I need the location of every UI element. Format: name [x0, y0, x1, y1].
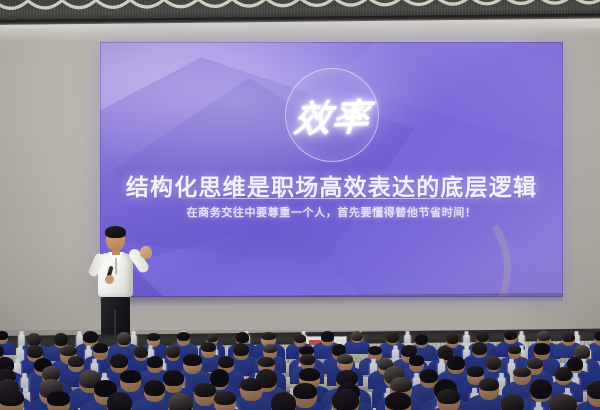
audience-hair: [420, 369, 438, 383]
projection-screen: 效率 结构化思维是职场高效表达的底层逻辑 在商务交往中要尊重一个人，首先要懂得替…: [100, 42, 563, 297]
audience-hair: [508, 345, 522, 354]
audience-hair: [537, 331, 551, 341]
audience-hair: [134, 346, 148, 359]
audience-hair: [594, 331, 600, 341]
audience-hair: [293, 383, 316, 399]
audience-hair: [117, 332, 131, 345]
audience-hair: [27, 333, 41, 346]
audience-hair: [390, 377, 412, 392]
audience-hair: [107, 392, 132, 410]
audience-hair: [409, 355, 425, 365]
audience-hair: [201, 342, 216, 352]
audience-hair: [467, 366, 484, 377]
audience-hair: [147, 356, 163, 368]
audience-hair: [110, 354, 128, 368]
audience-hair: [472, 342, 487, 355]
audience-hair: [47, 391, 70, 406]
slide-vignette: [100, 42, 563, 297]
audience-hair: [218, 356, 234, 367]
audience-hair: [60, 346, 77, 356]
audience-hair: [144, 380, 165, 396]
audience-hair: [486, 356, 501, 369]
audience-hair: [27, 345, 43, 358]
audience-hair: [258, 357, 275, 368]
audience-hair: [501, 394, 525, 410]
audience-hair: [163, 370, 184, 386]
audience-hair: [587, 381, 600, 399]
audience-hair: [504, 331, 517, 341]
audience-hair: [294, 334, 306, 343]
audience-hair: [513, 367, 531, 378]
audience-hair: [240, 378, 262, 392]
audience-area: [0, 330, 600, 410]
audience-hair: [54, 333, 68, 345]
audience-hair: [68, 356, 83, 367]
audience-hair: [562, 332, 575, 342]
presenter: [80, 228, 158, 346]
audience-hair: [385, 392, 411, 410]
audience-hair: [299, 368, 320, 381]
conference-photo: 效率 结构化思维是职场高效表达的底层逻辑 在商务交往中要尊重一个人，首先要懂得替…: [0, 0, 600, 410]
audience-hair: [120, 370, 141, 383]
audience-hair: [300, 354, 315, 365]
audience-hair: [332, 389, 359, 410]
audience-hair: [534, 343, 550, 354]
audience-hair: [263, 344, 277, 353]
audience-hair: [351, 331, 362, 341]
audience-hair: [386, 332, 399, 343]
audience-hair: [168, 393, 193, 410]
audience-hair: [261, 332, 276, 341]
audience-hair: [476, 331, 489, 342]
audience-hair: [415, 334, 428, 346]
audience-hair: [321, 331, 334, 341]
audience-hair: [271, 392, 296, 410]
audience-hair: [93, 343, 109, 353]
audience-hair: [0, 331, 8, 340]
audience-hair: [447, 356, 465, 370]
presenter-left-hand: [105, 275, 114, 284]
audience-hair: [549, 394, 577, 410]
audience-hair: [214, 391, 236, 405]
presenter-hair: [105, 226, 126, 238]
audience-hair: [166, 345, 181, 357]
audience-hair: [530, 379, 552, 399]
audience-hair: [147, 333, 160, 341]
presenter-placket: [115, 258, 117, 274]
audience-hair: [555, 367, 572, 381]
audience-hair: [183, 354, 202, 366]
audience-hair: [194, 383, 216, 397]
audience-hair: [337, 354, 353, 364]
audience-hair: [236, 332, 249, 342]
audience-hair: [233, 343, 249, 356]
audience-hair: [479, 378, 499, 390]
audience-hair: [446, 333, 460, 344]
audience-hair: [437, 389, 460, 404]
audience-hair: [177, 332, 190, 341]
audience-hair: [527, 358, 543, 370]
audience-hair: [0, 389, 24, 406]
audience-hair: [83, 331, 98, 343]
